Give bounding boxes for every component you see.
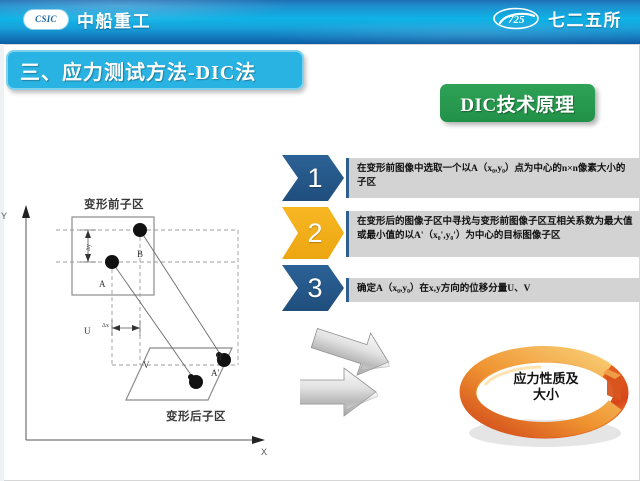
displacement-label-v: V <box>143 360 150 370</box>
caption-after-subset: 变形后子区 <box>166 408 226 424</box>
delta-x-label: Δx <box>102 323 109 329</box>
point-label-b: B <box>137 249 143 259</box>
silver-arrow-icon-2 <box>300 368 378 416</box>
displacement-label-u: U <box>84 326 91 336</box>
csic-logo-icon: CSIC <box>24 10 68 29</box>
dic-principle-badge: DIC技术原理 <box>440 84 595 122</box>
slide-canvas: CSIC 中船重工 725 七二五所 三、应力测试方法-DIC法 DIC技术原理 <box>0 0 640 481</box>
axis-label-y: Y <box>1 211 7 221</box>
step-description-3: 确定A（x₀,y₀）在x,y方向的位移分量U、V <box>346 278 640 302</box>
step-description-1: 在变形前图像中选取一个以A（x₀,y₀）点为中心的n×n像素大小的子区 <box>346 158 640 198</box>
silver-arrow-icon-1 <box>308 317 398 384</box>
header-institute-name: 七二五所 <box>548 6 622 31</box>
header-right-brand: 725 七二五所 <box>492 6 622 31</box>
step-number-1: 1 <box>303 165 322 192</box>
step-description-2: 在变形后的图像子区中寻找与变形前图像子区互相关系数为最大值或最小值的以A'（x₀… <box>346 211 640 257</box>
header-company-name: 中船重工 <box>77 7 151 32</box>
header-left-brand: CSIC 中船重工 <box>24 7 151 32</box>
step-number-chevron-3: 3 <box>282 265 344 311</box>
dic-principle-badge-text: DIC技术原理 <box>460 90 574 117</box>
step-number-3: 3 <box>303 275 322 302</box>
slide-header: CSIC 中船重工 725 七二五所 <box>0 0 640 44</box>
result-label-line1: 应力性质及 <box>487 371 605 387</box>
step-number-chevron-2: 2 <box>282 207 344 259</box>
result-label-line2: 大小 <box>487 387 605 403</box>
step-number-chevron-1: 1 <box>282 155 344 201</box>
page-title: 三、应力测试方法-DIC法 <box>6 50 304 90</box>
result-label: 应力性质及 大小 <box>487 371 605 404</box>
point-label-a-prime: A' <box>211 368 219 378</box>
caption-before-subset: 变形前子区 <box>84 196 144 212</box>
csic-logo-text: CSIC <box>35 15 57 24</box>
axis-label-x: X <box>261 447 267 457</box>
logo-725-icon: 725 <box>492 7 540 30</box>
dic-subset-diagram <box>0 150 290 470</box>
point-label-b-prime: B' <box>216 352 224 362</box>
step-number-2: 2 <box>303 220 322 247</box>
delta-y-label: Δy <box>86 244 92 251</box>
svg-text:725: 725 <box>508 14 525 26</box>
page-title-text: 三、应力测试方法-DIC法 <box>20 56 256 85</box>
point-label-a: A <box>99 279 106 289</box>
